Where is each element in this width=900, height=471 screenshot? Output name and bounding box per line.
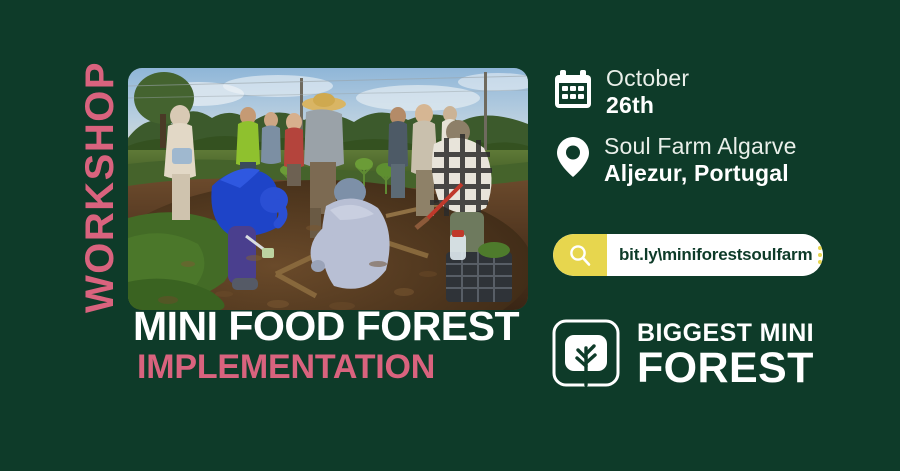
location-row: Soul Farm Algarve Aljezur, Portugal (556, 134, 797, 186)
workshop-photo-illustration (128, 68, 528, 310)
tree-in-square-logo-icon (551, 318, 621, 393)
date-text: October 26th (606, 66, 689, 118)
workshop-photo (128, 68, 528, 310)
location-text: Soul Farm Algarve Aljezur, Portugal (604, 134, 797, 186)
location-venue: Soul Farm Algarve (604, 134, 797, 160)
kebab-menu-icon[interactable] (812, 246, 822, 264)
headline-line-1: MINI FOOD FOREST (133, 305, 553, 348)
brand-text: BIGGEST MINI FOREST (637, 320, 814, 390)
calendar-icon (554, 69, 592, 114)
brand-lockup: BIGGEST MINI FOREST (551, 318, 814, 393)
location-city: Aljezur, Portugal (604, 160, 797, 186)
date-month: October (606, 66, 689, 92)
headline: MINI FOOD FOREST IMPLEMENTATION (133, 305, 553, 387)
date-row: October 26th (554, 66, 689, 118)
url-field[interactable]: bit.ly\miniforestsoulfarm (607, 234, 823, 276)
brand-line-1: BIGGEST MINI (637, 320, 814, 346)
search-icon[interactable] (553, 234, 607, 276)
url-text: bit.ly\miniforestsoulfarm (619, 245, 812, 265)
headline-line-2: IMPLEMENTATION (137, 348, 553, 386)
workshop-label: WORKSHOP (72, 62, 128, 312)
date-day: 26th (606, 92, 689, 118)
poster-canvas: WORKSHOP (0, 0, 900, 471)
brand-line-2: FOREST (637, 347, 814, 391)
workshop-label-text: WORKSHOP (80, 61, 120, 313)
map-pin-icon (556, 135, 590, 184)
url-bar[interactable]: bit.ly\miniforestsoulfarm (553, 234, 823, 276)
